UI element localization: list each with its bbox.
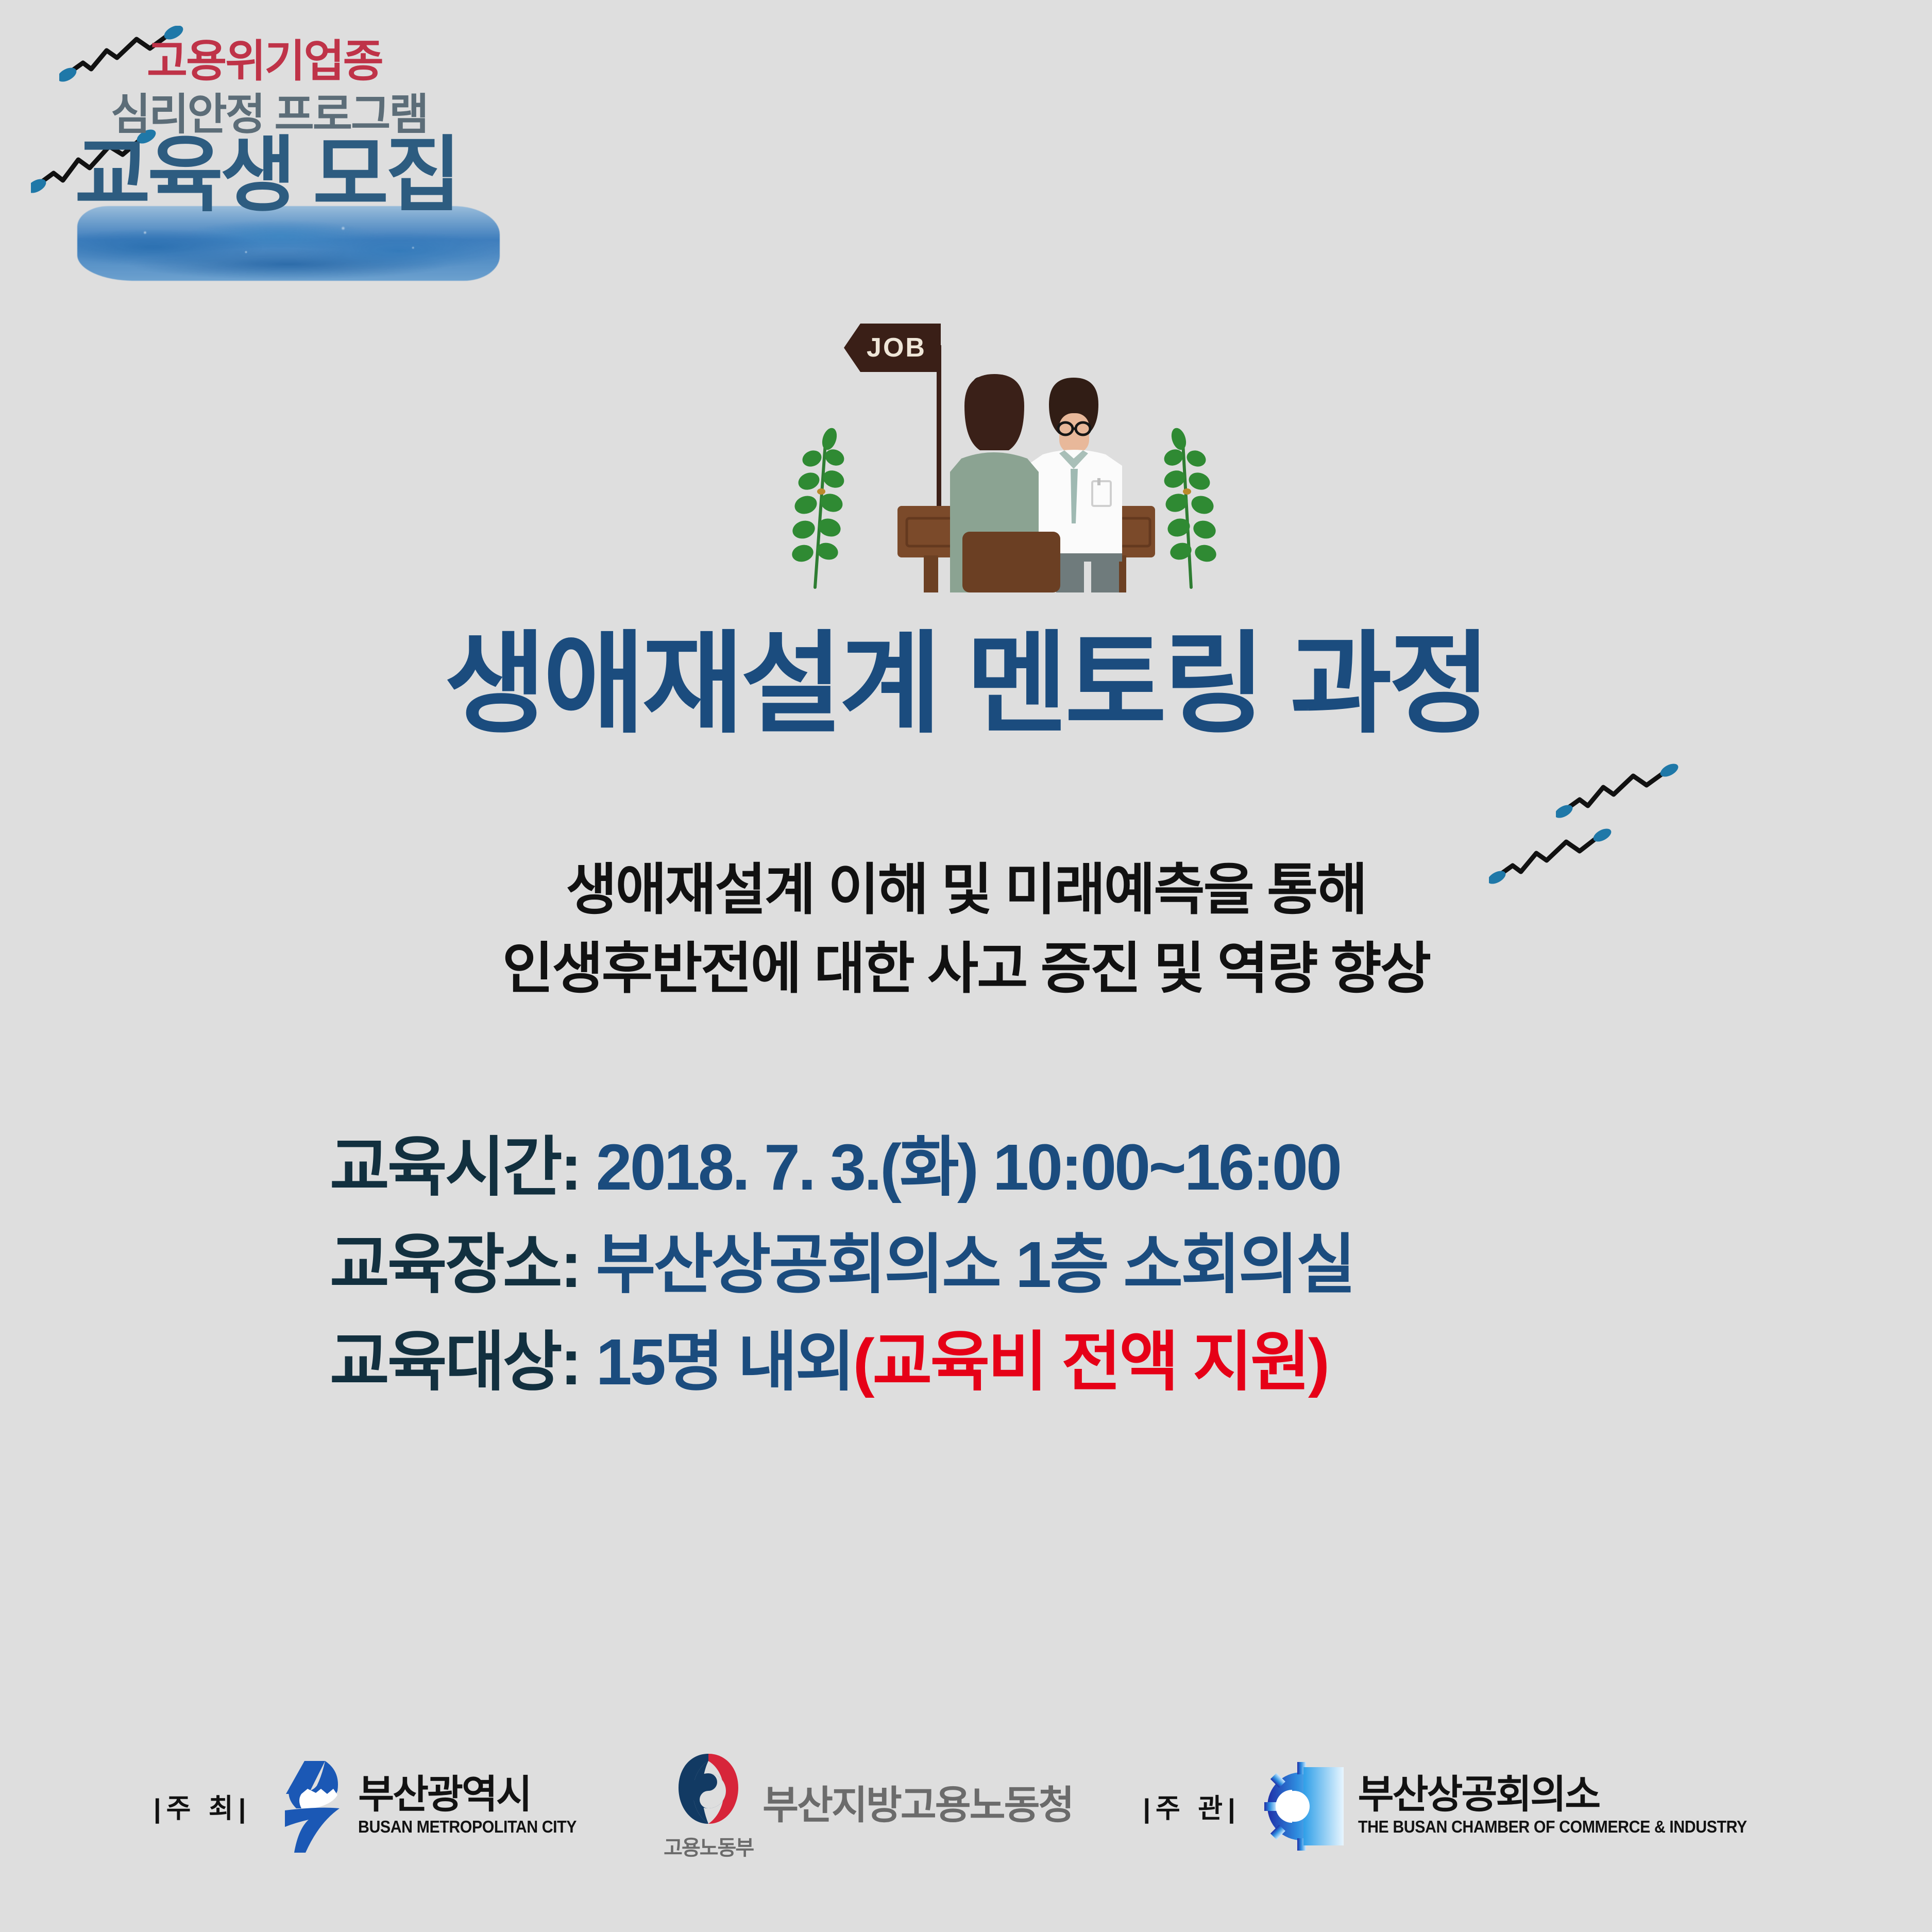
busan-city-name-ko: 부산광역시 xyxy=(358,1775,596,1815)
scribble-decoration-right-a xyxy=(1556,762,1710,824)
organizer-tag: |주 관| xyxy=(1141,1787,1242,1825)
labor-office-name-ko: 부산지방고용노동청 xyxy=(762,1786,1073,1826)
logo-busan-metropolitan-city: 부산광역시 BUSAN METROPOLITAN CITY xyxy=(272,1757,596,1855)
busan-city-text: 부산광역시 BUSAN METROPOLITAN CITY xyxy=(358,1775,596,1837)
svg-text:JOB: JOB xyxy=(867,333,926,363)
info-value-audience-highlight: (교육비 전액 지원) xyxy=(853,1326,1328,1398)
page-title: 생애재설계 멘토링 과정 xyxy=(0,626,1932,742)
chamber-name-ko: 부산상공회의소 xyxy=(1358,1775,1781,1815)
subtitle-block: 생애재설계 이해 및 미래예측을 통해 인생후반전에 대한 사고 증진 및 역량… xyxy=(0,850,1932,1008)
ministry-of-employment-labor-sub: 고용노동부 xyxy=(664,1831,753,1861)
logo-busan-regional-employment-labor-office: 고용노동부 부산지방고용노동청 xyxy=(664,1751,1073,1861)
fern-plant-right xyxy=(1162,426,1218,587)
info-value-schedule: 2018. 7. 3.(화) 10:00~16:00 xyxy=(580,1131,1340,1204)
info-block: 교육시간: 2018. 7. 3.(화) 10:00~16:00 교육장소: 부… xyxy=(330,1131,1669,1423)
chamber-gear-mark-icon xyxy=(1261,1761,1349,1851)
korea-government-taegeuk-icon xyxy=(675,1751,741,1828)
logo-busan-chamber-of-commerce: 부산상공회의소 THE BUSAN CHAMBER OF COMMERCE & … xyxy=(1261,1761,1781,1851)
labor-office-text: 부산지방고용노동청 xyxy=(762,1786,1073,1826)
info-label-audience: 교육대상: xyxy=(330,1326,580,1398)
chamber-text: 부산상공회의소 THE BUSAN CHAMBER OF COMMERCE & … xyxy=(1358,1775,1781,1837)
busan-city-mark-icon xyxy=(272,1757,349,1855)
info-value-venue: 부산상공회의소 1층 소회의실 xyxy=(580,1228,1354,1301)
job-signpost: JOB xyxy=(844,324,941,520)
info-label-venue: 교육장소: xyxy=(330,1228,580,1301)
busan-city-name-en: BUSAN METROPOLITAN CITY xyxy=(358,1817,577,1837)
badge-line-recruit: 교육생 모집 xyxy=(75,134,458,216)
fern-plant-left xyxy=(790,426,847,587)
subtitle-line-2: 인생후반전에 대한 사고 증진 및 역량 향상 xyxy=(0,929,1932,1008)
info-row-schedule: 교육시간: 2018. 7. 3.(화) 10:00~16:00 xyxy=(330,1131,1669,1204)
chamber-name-en: THE BUSAN CHAMBER OF COMMERCE & INDUSTRY xyxy=(1358,1817,1747,1837)
subtitle-line-1: 생애재설계 이해 및 미래예측을 통해 xyxy=(0,850,1932,929)
job-counseling-illustration: JOB ?! xyxy=(768,273,1231,592)
info-row-venue: 교육장소: 부산상공회의소 1층 소회의실 xyxy=(330,1228,1669,1301)
footer-sponsors: |주 최| 부산광역시 BUSAN METROPOLITAN CITY xyxy=(0,1747,1932,1865)
poster-root: 고용위기업종 심리안정 프로그램 교육생 모집 xyxy=(0,0,1932,1932)
host-tag: |주 최| xyxy=(151,1787,253,1825)
info-label-schedule: 교육시간: xyxy=(330,1131,580,1204)
info-row-audience: 교육대상: 15명 내외(교육비 전액 지원) xyxy=(330,1326,1669,1398)
header-badge: 고용위기업종 심리안정 프로그램 교육생 모집 xyxy=(46,15,520,283)
info-value-audience: 15명 내외 xyxy=(580,1326,853,1398)
chair xyxy=(954,532,1062,592)
